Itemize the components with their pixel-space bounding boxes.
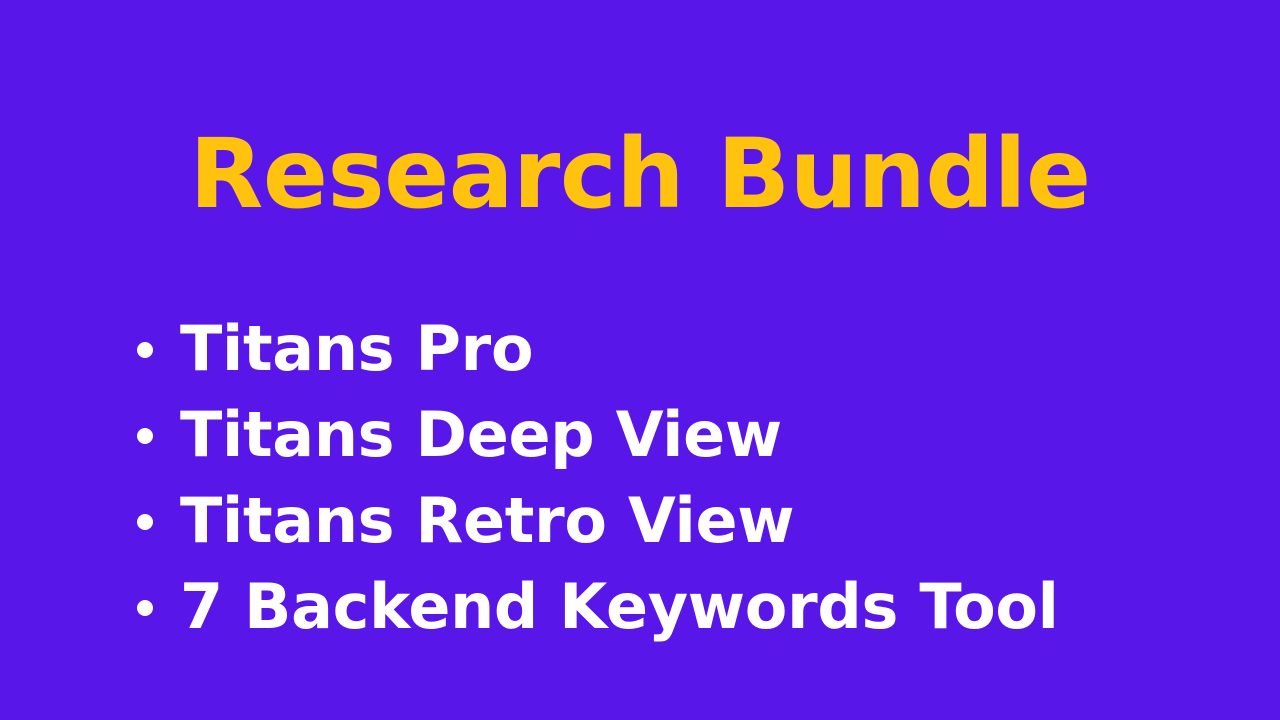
presentation-slide: Research Bundle Titans Pro Titans Deep V… bbox=[0, 0, 1280, 720]
list-item: Titans Deep View bbox=[137, 392, 1237, 478]
list-item-label: Titans Retro View bbox=[180, 478, 794, 564]
bullet-dot-icon bbox=[137, 514, 153, 530]
list-item: Titans Pro bbox=[137, 306, 1237, 392]
title-block: Research Bundle bbox=[0, 0, 1280, 280]
list-item-label: Titans Pro bbox=[180, 306, 533, 392]
list-item-label: Titans Deep View bbox=[180, 392, 782, 478]
feature-list: Titans Pro Titans Deep View Titans Retro… bbox=[137, 306, 1237, 650]
bullet-dot-icon bbox=[137, 428, 153, 444]
list-item-label: 7 Backend Keywords Tool bbox=[180, 564, 1059, 650]
list-item: 7 Backend Keywords Tool bbox=[137, 564, 1237, 650]
bullet-dot-icon bbox=[137, 342, 153, 358]
page-title: Research Bundle bbox=[189, 126, 1090, 280]
list-item: Titans Retro View bbox=[137, 478, 1237, 564]
bullet-dot-icon bbox=[137, 600, 153, 616]
